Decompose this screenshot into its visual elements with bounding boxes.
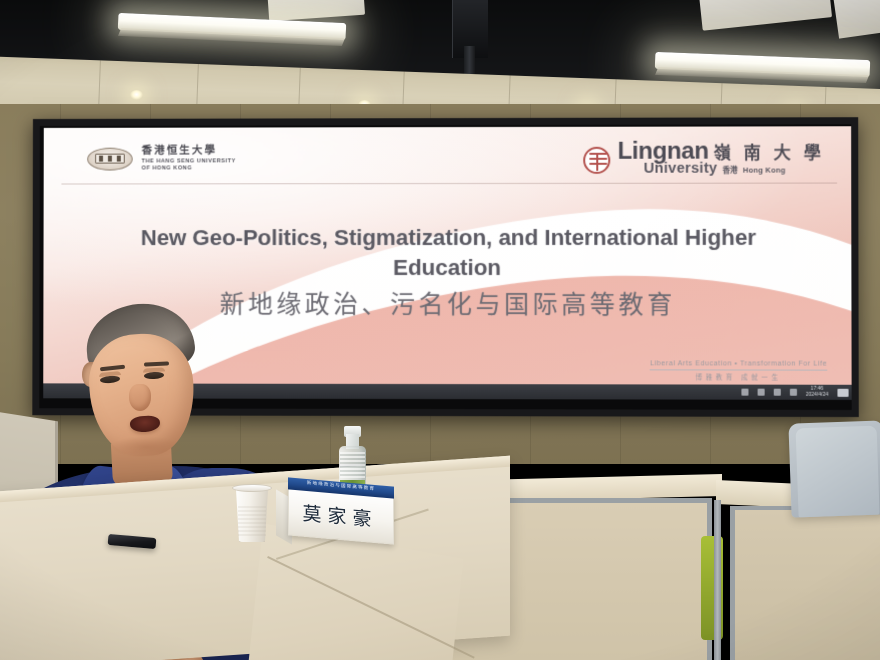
slide-tagline-cn: 博雅教育 成就一生 — [650, 371, 827, 381]
taskbar-notification-icon[interactable] — [837, 388, 848, 396]
speaker-nose — [129, 384, 151, 411]
downlight-icon — [130, 90, 143, 100]
lingnan-wordmark-cn: 嶺 南 大 學 — [714, 144, 825, 161]
lingnan-seal-icon — [583, 146, 610, 173]
slide-tagline-en: Liberal Arts Education • Transformation … — [650, 360, 827, 367]
paper-cup-rim — [232, 484, 272, 492]
hsuhk-name-cn: 香港恒生大學 — [142, 145, 236, 156]
taskbar-clock-date: 2024/4/24 — [806, 391, 829, 397]
slide-title: New Geo-Politics, Stigmatization, and In… — [43, 223, 855, 284]
volume-icon[interactable] — [757, 389, 764, 396]
slide-tagline: Liberal Arts Education • Transformation … — [650, 360, 827, 381]
table-modesty-panel-2 — [730, 506, 880, 660]
hsuhk-seal-icon — [87, 147, 133, 170]
language-icon[interactable] — [773, 389, 780, 396]
hsuhk-logo: 香港恒生大學 THE HANG SENG UNIVERSITY OF HONG … — [87, 145, 236, 171]
hsuhk-name-en-2: OF HONG KONG — [142, 166, 236, 172]
ceiling-acoustic-panel — [834, 0, 880, 39]
gray-chair[interactable] — [788, 420, 880, 517]
lingnan-subword: University — [644, 162, 718, 177]
conference-room-scene: 香港恒生大學 THE HANG SENG UNIVERSITY OF HONG … — [0, 0, 880, 660]
name-card: 新地缘政治与国际高等教育 莫家豪 — [276, 480, 394, 542]
lingnan-logo: Lingnan 嶺 南 大 學 University 香港 Hong Kong — [583, 139, 824, 176]
lingnan-locale-en: Hong Kong — [743, 167, 786, 175]
hsuhk-name-en-1: THE HANG SENG UNIVERSITY — [142, 158, 236, 164]
battery-icon[interactable] — [790, 389, 797, 396]
network-icon[interactable] — [741, 389, 748, 396]
lingnan-locale-cn: 香港 — [722, 167, 738, 175]
table-leg — [714, 500, 721, 660]
taskbar-clock[interactable]: 17:46 2024/4/24 — [806, 387, 829, 398]
